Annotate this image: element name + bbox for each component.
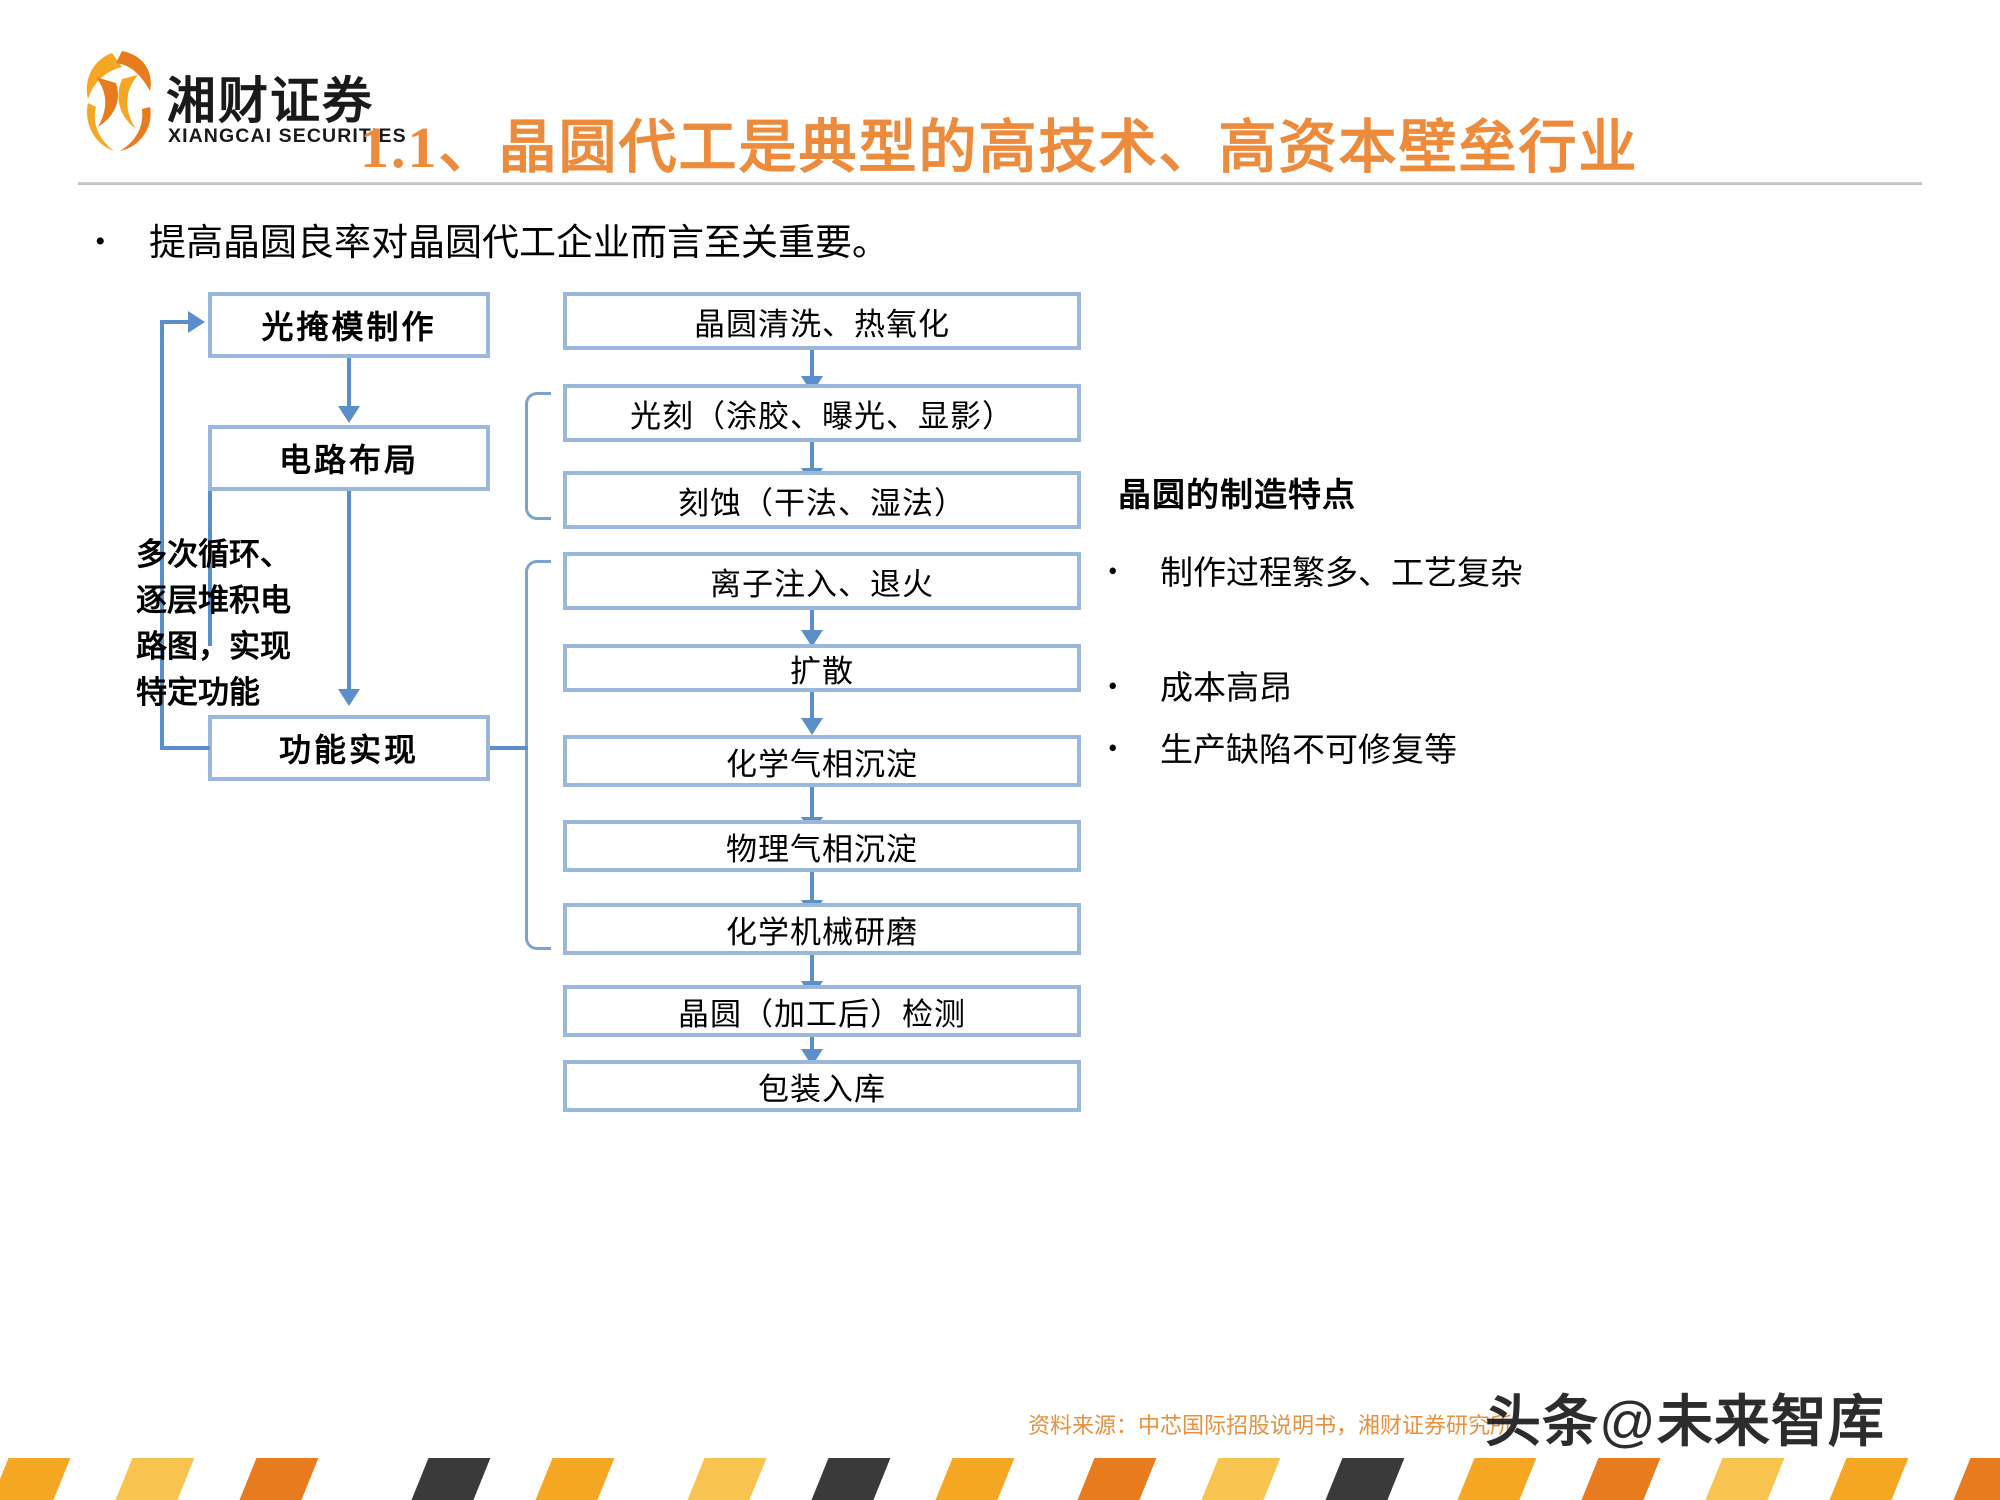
lead-bullet-text: 提高晶圆良率对晶圆代工企业而言至关重要。 bbox=[149, 223, 889, 264]
flow-box-ion-implant-anneal: 离子注入、退火 bbox=[563, 552, 1081, 610]
flow-box-cmp: 化学机械研磨 bbox=[563, 903, 1081, 955]
flow-box-etching: 刻蚀（干法、湿法） bbox=[563, 471, 1081, 529]
features-title: 晶圆的制造特点 bbox=[1118, 468, 1356, 516]
arrow-mask-to-layout-icon bbox=[338, 406, 360, 423]
flow-box-label: 功能实现 bbox=[279, 725, 419, 771]
loop-segment-top bbox=[160, 320, 190, 324]
loop-note-line: 路图，实现 bbox=[136, 624, 366, 670]
loop-segment-bottom bbox=[160, 746, 210, 750]
connector-mask-to-layout bbox=[347, 358, 351, 408]
decorative-bottom-bar bbox=[0, 1458, 2000, 1500]
connector-7-8 bbox=[810, 872, 814, 902]
flow-box-label: 离子注入、退火 bbox=[710, 559, 934, 604]
bullet-dot-icon: • bbox=[1108, 660, 1160, 713]
flow-box-mask-making: 光掩模制作 bbox=[208, 292, 490, 358]
flow-box-post-process-inspection: 晶圆（加工后）检测 bbox=[563, 985, 1081, 1037]
connector-function-to-group bbox=[490, 746, 528, 750]
loop-note-line: 逐层堆积电 bbox=[136, 578, 366, 624]
arrow-loop-to-mask-icon bbox=[188, 311, 205, 333]
lead-bullet: •提高晶圆良率对晶圆代工企业而言至关重要。 bbox=[95, 212, 1495, 266]
connector-8-9 bbox=[810, 955, 814, 983]
feature-item-text: 成本高昂 bbox=[1160, 671, 1292, 707]
flow-box-label: 光刻（涂胶、曝光、显影） bbox=[630, 391, 1014, 436]
page-title: 1.1、晶圆代工是典型的高技术、高资本壁垒行业 bbox=[360, 100, 1920, 184]
feature-item: •成本高昂 bbox=[1108, 660, 1938, 716]
header-divider bbox=[78, 182, 1922, 185]
group-bracket-deposition bbox=[525, 560, 551, 950]
flow-box-label: 包装入库 bbox=[758, 1064, 886, 1109]
flow-box-label: 晶圆（加工后）检测 bbox=[678, 989, 966, 1034]
flow-box-function-realization: 功能实现 bbox=[208, 715, 490, 781]
feature-item-text: 制作过程繁多、工艺复杂 bbox=[1160, 556, 1523, 592]
flow-box-diffusion: 扩散 bbox=[563, 644, 1081, 692]
flow-box-circuit-layout: 电路布局 bbox=[208, 425, 490, 491]
loop-note-line: 特定功能 bbox=[136, 670, 366, 716]
bullet-dot-icon: • bbox=[95, 225, 149, 259]
connector-1-2 bbox=[810, 350, 814, 378]
feature-item-text: 生产缺陷不可修复等 bbox=[1160, 733, 1457, 769]
connector-4-5 bbox=[810, 610, 814, 632]
flow-box-label: 化学机械研磨 bbox=[726, 907, 918, 952]
connector-2-3 bbox=[810, 442, 814, 470]
source-note: 资料来源：中芯国际招股说明书，湘财证券研究所 bbox=[1028, 1408, 1512, 1440]
flow-box-label: 晶圆清洗、热氧化 bbox=[694, 299, 950, 344]
logo-chinese-name: 湘财证券 bbox=[166, 61, 374, 133]
company-logo: 湘财证券 XIANGCAI SECURITIES bbox=[78, 45, 348, 155]
flow-box-wafer-clean-oxidation: 晶圆清洗、热氧化 bbox=[563, 292, 1081, 350]
bullet-dot-icon: • bbox=[1108, 545, 1160, 598]
connector-6-7 bbox=[810, 787, 814, 819]
feature-item: •制作过程繁多、工艺复杂 bbox=[1108, 545, 1938, 601]
connector-5-6 bbox=[810, 692, 814, 720]
watermark-right-text: 未来智库 bbox=[1657, 1390, 1885, 1453]
bullet-dot-icon: • bbox=[1108, 722, 1160, 775]
flow-box-label: 刻蚀（干法、湿法） bbox=[678, 478, 966, 523]
slide-canvas: 湘财证券 XIANGCAI SECURITIES 1.1、晶圆代工是典型的高技术… bbox=[0, 0, 2000, 1500]
group-bracket-patterning bbox=[525, 392, 551, 520]
flow-box-pvd: 物理气相沉淀 bbox=[563, 820, 1081, 872]
watermark-left-text: 头条 bbox=[1485, 1390, 1599, 1453]
flow-box-packaging-warehousing: 包装入库 bbox=[563, 1060, 1081, 1112]
flow-box-label: 化学气相沉淀 bbox=[726, 739, 918, 784]
flow-box-cvd: 化学气相沉淀 bbox=[563, 735, 1081, 787]
flow-box-photolithography: 光刻（涂胶、曝光、显影） bbox=[563, 384, 1081, 442]
flow-box-label: 光掩模制作 bbox=[261, 302, 436, 348]
flow-box-label: 电路布局 bbox=[279, 435, 419, 481]
loop-note-text: 多次循环、 逐层堆积电 路图，实现 特定功能 bbox=[136, 532, 366, 716]
flow-box-label: 扩散 bbox=[790, 646, 854, 691]
logo-mark-icon bbox=[78, 47, 158, 155]
flow-box-label: 物理气相沉淀 bbox=[726, 824, 918, 869]
loop-note-line: 多次循环、 bbox=[136, 532, 366, 578]
watermark-at-symbol: @ bbox=[1599, 1390, 1657, 1453]
arrow-5-6-icon bbox=[801, 718, 823, 735]
feature-item: •生产缺陷不可修复等 bbox=[1108, 722, 1938, 778]
watermark: 头条@未来智库 bbox=[1485, 1377, 1885, 1458]
